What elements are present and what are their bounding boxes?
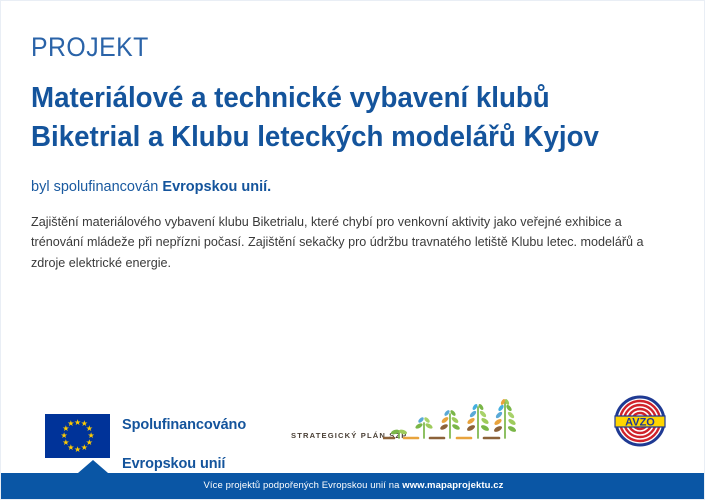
eu-caption-line-1: Spolufinancováno xyxy=(122,417,246,433)
eu-logo-caption: Spolufinancováno Evropskou unií xyxy=(122,397,246,474)
funding-emphasis: Evropskou unií. xyxy=(162,179,271,195)
eu-caption-line-2: Evropskou unií xyxy=(122,456,225,472)
svg-text:AVZO: AVZO xyxy=(625,417,655,429)
footer-text: Více projektů podpořených Evropskou unií… xyxy=(1,473,705,499)
logo-strip: ★★★★★★★★★★★★ Spolufinancováno Evropskou … xyxy=(1,389,705,459)
page-title: Materiálové a technické vybavení klubů B… xyxy=(31,79,628,156)
avzo-logo-icon: AVZO xyxy=(613,395,667,447)
eu-star-icon: ★ xyxy=(81,444,88,451)
footer-prefix: Více projektů podpořených Evropskou unií… xyxy=(203,480,402,491)
eu-star-icon: ★ xyxy=(61,432,68,439)
footer-url[interactable]: www.mapaprojektu.cz xyxy=(402,480,503,491)
eyebrow-label: PROJEKT xyxy=(31,33,624,61)
footer-bar: Více projektů podpořených Evropskou unií… xyxy=(1,473,705,499)
funding-prefix: byl spolufinancován xyxy=(31,179,162,195)
szp-logo: STRATEGICKÝ PLÁN SZP xyxy=(291,395,516,447)
growing-plants-icon xyxy=(383,395,516,445)
project-description: Zajištění materiálového vybavení klubu B… xyxy=(31,212,676,273)
poster-content: PROJEKT Materiálové a technické vybavení… xyxy=(31,1,676,285)
footer-notch xyxy=(78,460,108,473)
funding-statement: byl spolufinancován Evropskou unií. xyxy=(31,178,676,197)
project-poster: PROJEKT Materiálové a technické vybavení… xyxy=(0,0,705,500)
eu-star-icon: ★ xyxy=(67,420,74,427)
eu-flag-icon: ★★★★★★★★★★★★ xyxy=(45,414,110,458)
eu-funding-logo: ★★★★★★★★★★★★ Spolufinancováno Evropskou … xyxy=(45,397,246,474)
eu-star-icon: ★ xyxy=(74,446,81,453)
